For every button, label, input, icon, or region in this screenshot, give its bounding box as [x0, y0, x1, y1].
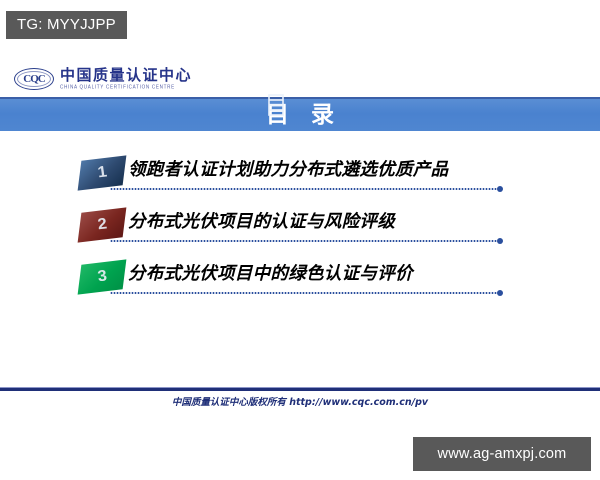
toc-item-2[interactable]: 2 分布式光伏项目的认证与风险评级 — [0, 204, 600, 256]
logo-name-chinese: 中国质量认证中心 — [60, 68, 192, 83]
footer-copyright: 中国质量认证中心版权所有 http://www.cqc.com.cn/pv — [0, 394, 600, 408]
toc-item-3[interactable]: 3 分布式光伏项目中的绿色认证与评价 — [0, 256, 600, 308]
toc-item-1[interactable]: 1 领跑者认证计划助力分布式遴选优质产品 — [0, 152, 600, 204]
toc-marker-number: 2 — [96, 216, 107, 234]
toc-leader-line — [110, 240, 500, 242]
footer-divider — [0, 387, 600, 391]
toc-leader-end-dot — [497, 238, 503, 244]
toc-marker-2: 2 — [78, 207, 127, 242]
cqc-logo: CQC 中国质量认证中心 CHINA QUALITY CERTIFICATION… — [14, 68, 192, 90]
presentation-slide: TG: MYYJJPP CQC 中国质量认证中心 CHINA QUALITY C… — [0, 0, 600, 480]
list-lines-icon — [268, 94, 284, 116]
toc-leader-end-dot — [497, 290, 503, 296]
toc-item-label: 分布式光伏项目中的绿色认证与评价 — [128, 260, 413, 288]
toc-marker-number: 1 — [96, 164, 107, 182]
slide-title-band: 目 录 — [0, 97, 600, 131]
toc-leader-line — [110, 188, 500, 190]
page-title: 目 录 — [0, 99, 600, 131]
logo-name-english: CHINA QUALITY CERTIFICATION CENTRE — [60, 85, 192, 90]
toc-marker-1: 1 — [78, 155, 127, 190]
toc-item-label: 领跑者认证计划助力分布式遴选优质产品 — [128, 156, 448, 184]
telegram-watermark: TG: MYYJJPP — [6, 11, 127, 39]
toc-marker-number: 3 — [96, 268, 107, 286]
toc-leader-end-dot — [497, 186, 503, 192]
toc-marker-3: 3 — [78, 259, 127, 294]
toc-leader-line — [110, 292, 500, 294]
cqc-logo-icon: CQC — [14, 68, 54, 90]
toc-item-label: 分布式光伏项目的认证与风险评级 — [128, 208, 395, 236]
site-watermark: www.ag-amxpj.com — [413, 437, 591, 471]
table-of-contents: 1 领跑者认证计划助力分布式遴选优质产品 2 分布式光伏项目的认证与风险评级 3… — [0, 152, 600, 308]
logo-text: 中国质量认证中心 CHINA QUALITY CERTIFICATION CEN… — [60, 68, 192, 90]
